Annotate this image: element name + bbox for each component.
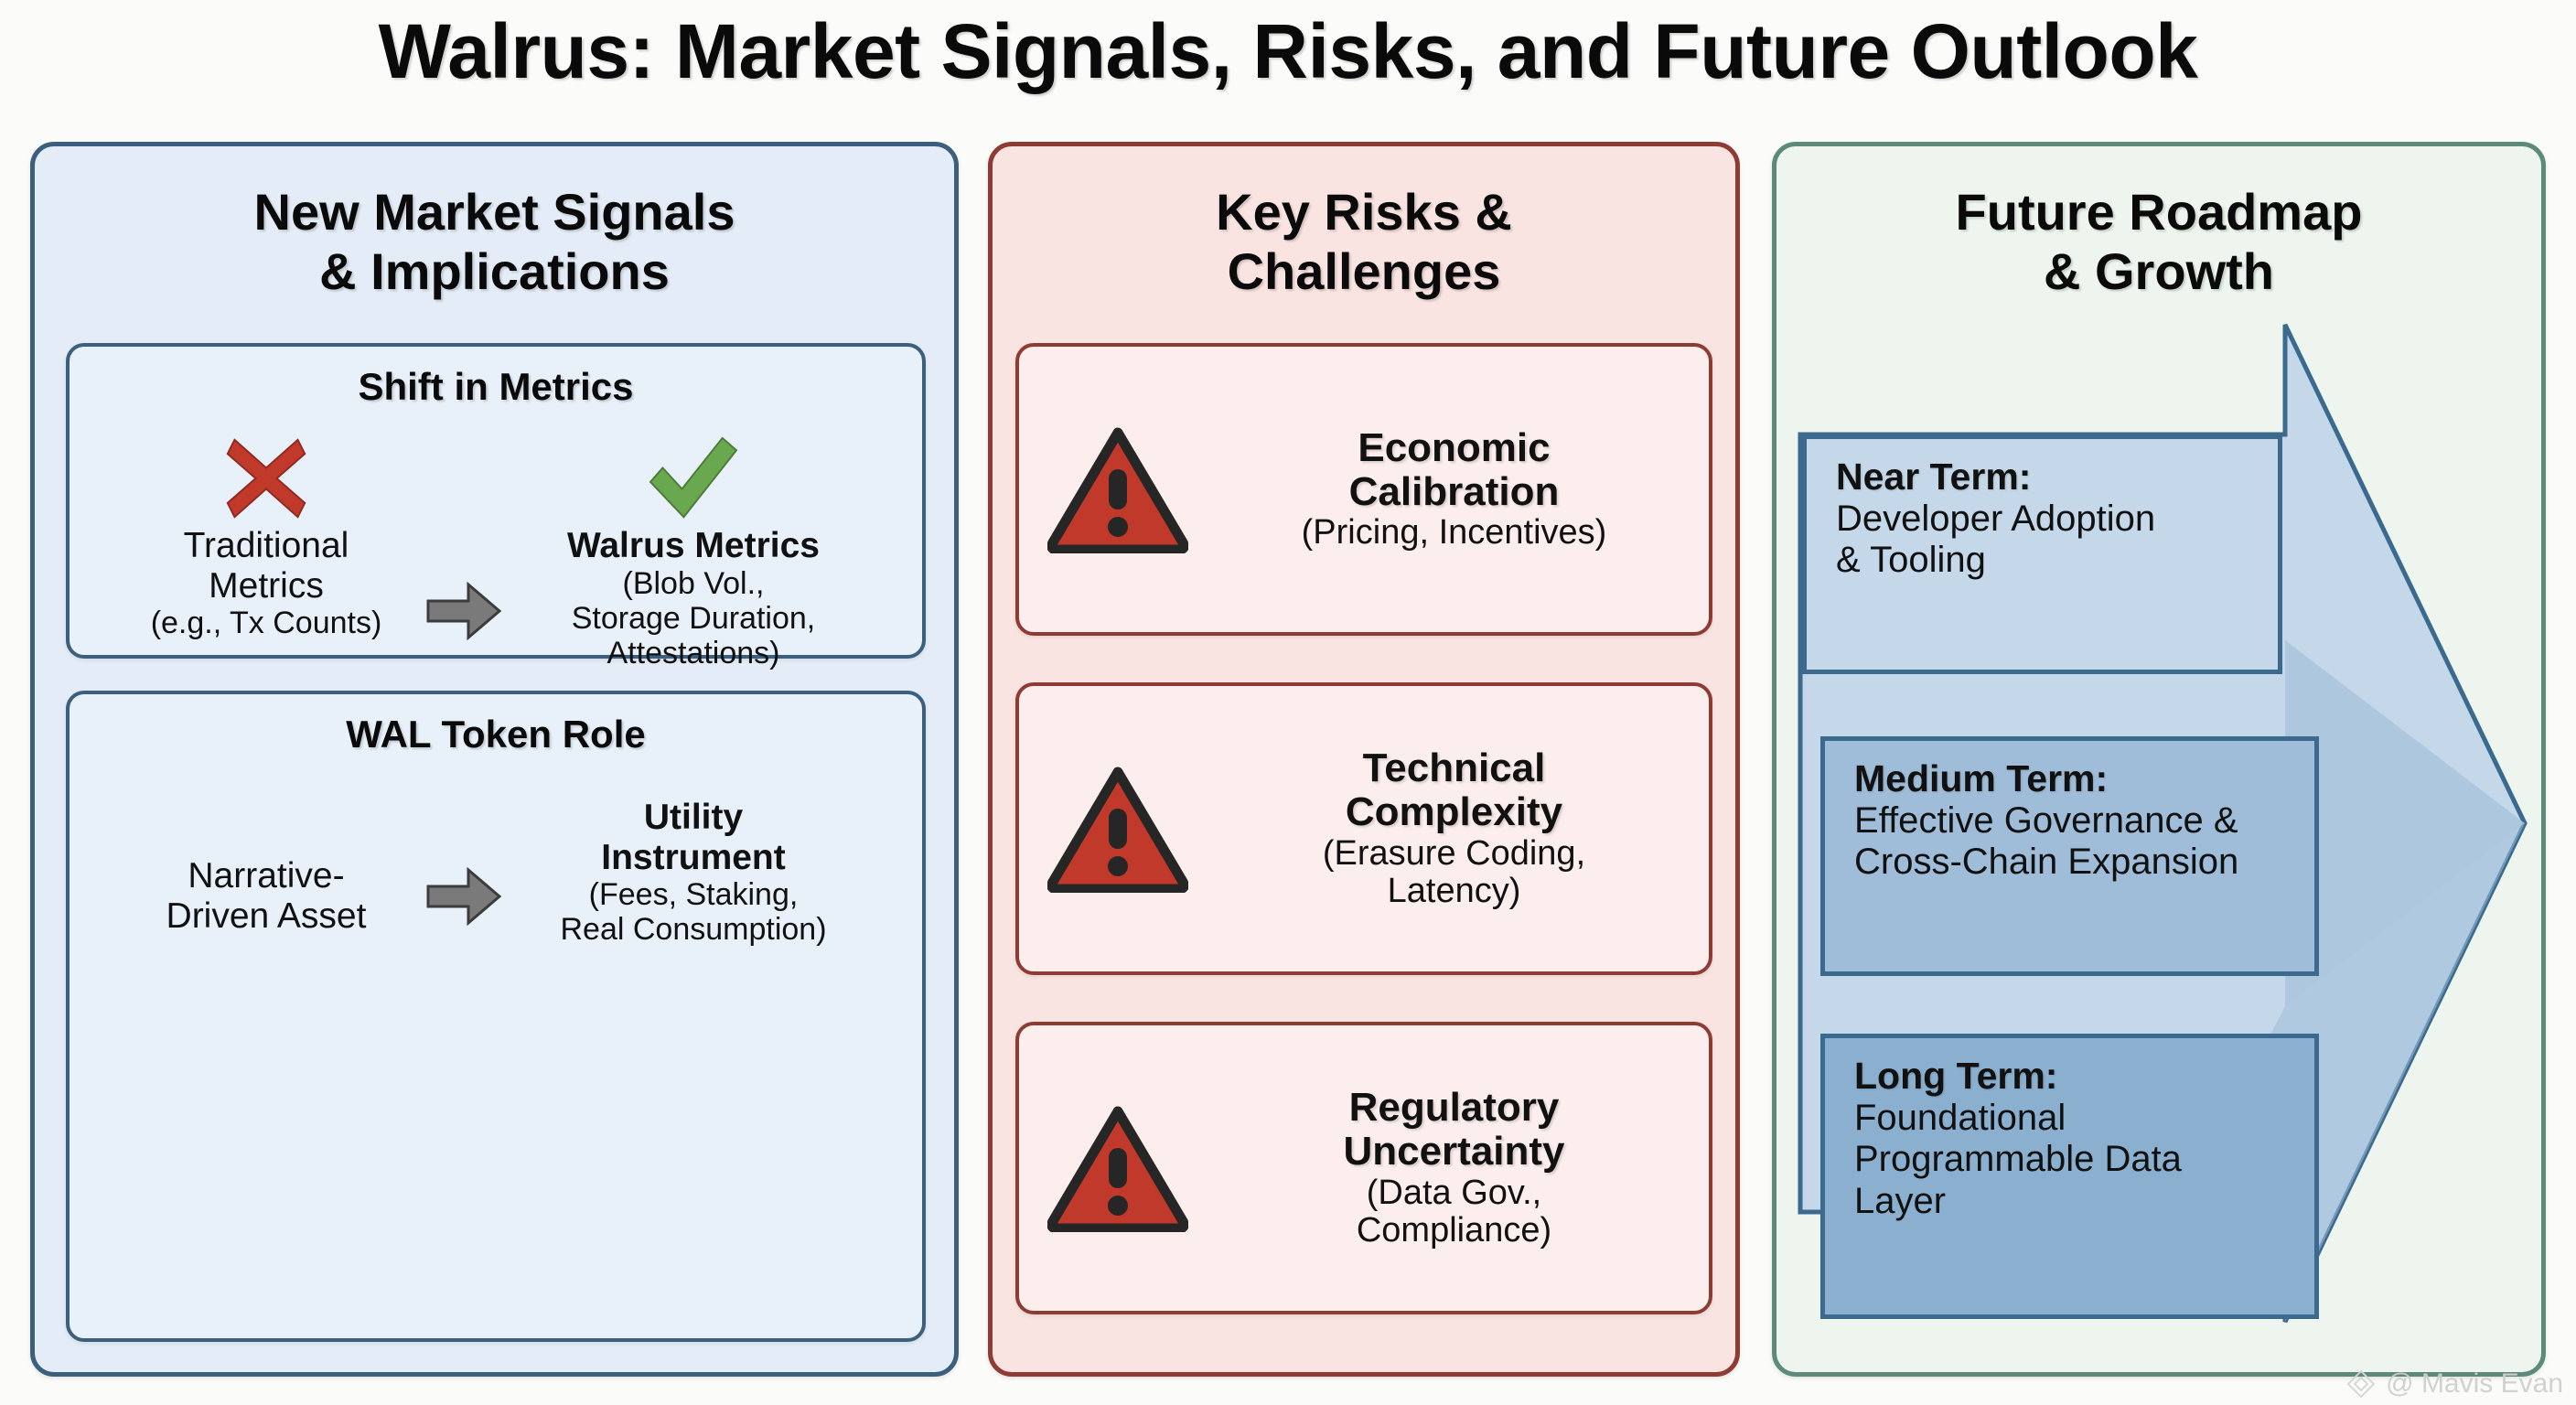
roadmap-term-long: Long Term: <box>1854 1055 2291 1098</box>
roadmap-desc-medium: Effective Governance & Cross-Chain Expan… <box>1854 800 2291 884</box>
roadmap-desc-near: Developer Adoption & Tooling <box>1836 499 2254 582</box>
roadmap-term-near: Near Term: <box>1836 456 2254 499</box>
watermark-text: @ Mavis Evan <box>2386 1368 2563 1400</box>
roadmap-desc-long: Foundational Programmable Data Layer <box>1854 1098 2291 1223</box>
diamond-logo-icon <box>2345 1368 2377 1400</box>
roadmap-term-medium: Medium Term: <box>1854 757 2291 800</box>
roadmap-stage-medium-term: Medium Term: Effective Governance & Cros… <box>1820 736 2319 976</box>
roadmap-stage-near-term: Near Term: Developer Adoption & Tooling <box>1802 434 2282 674</box>
watermark: @ Mavis Evan <box>2345 1368 2563 1400</box>
roadmap-stage-long-term: Long Term: Foundational Programmable Dat… <box>1820 1034 2319 1319</box>
